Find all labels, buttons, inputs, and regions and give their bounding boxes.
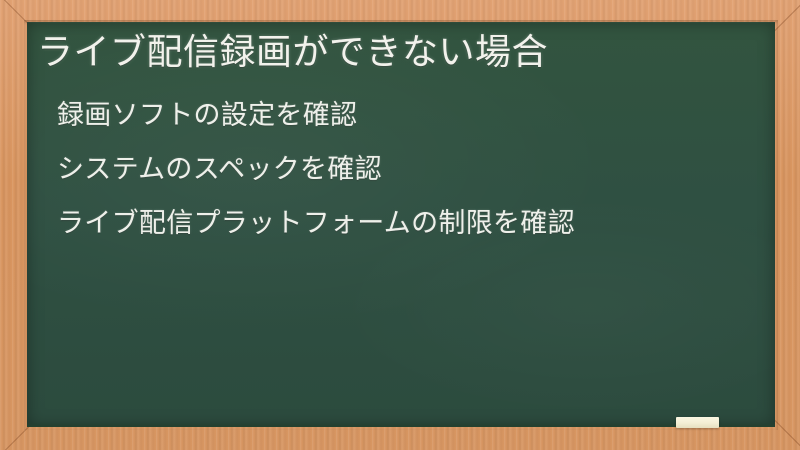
page-title: ライブ配信録画ができない場合	[37, 30, 548, 75]
chalkboard-slide: ライブ配信録画ができない場合 録画ソフトの設定を確認 システムのスペックを確認 …	[0, 0, 800, 450]
checklist: 録画ソフトの設定を確認 システムのスペックを確認 ライブ配信プラットフォームの制…	[57, 102, 755, 264]
list-item: システムのスペックを確認	[57, 156, 755, 183]
list-item: ライブ配信プラットフォームの制限を確認	[57, 210, 755, 237]
chalkboard-surface: ライブ配信録画ができない場合 録画ソフトの設定を確認 システムのスペックを確認 …	[27, 22, 775, 427]
chalk-stick	[676, 417, 719, 428]
board-bottom-shadow	[27, 422, 775, 427]
list-item: 録画ソフトの設定を確認	[57, 102, 755, 129]
